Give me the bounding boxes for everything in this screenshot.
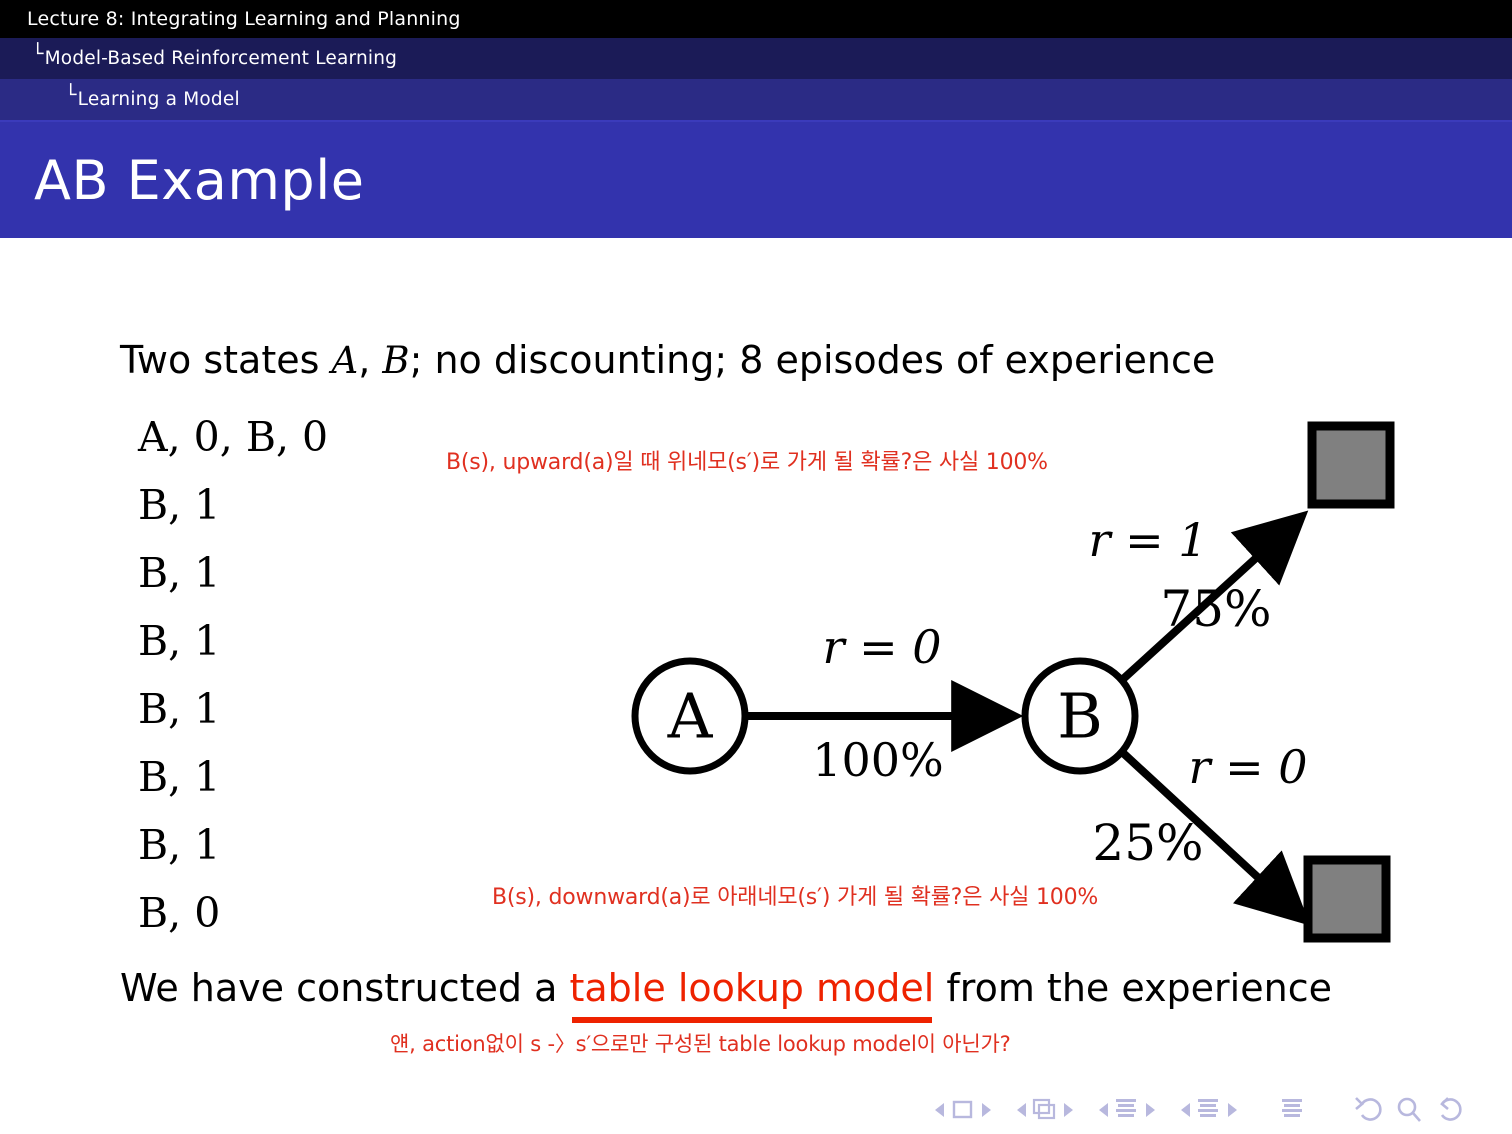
page-title: AB Example <box>0 149 364 212</box>
annotation-final: 얜, action없이 s -〉s′으로만 구성된 table lookup m… <box>390 1028 1011 1058</box>
lead-comma: , <box>358 338 382 382</box>
edge-ab-reward-label: r = 0 <box>822 620 941 674</box>
state-var-a: A <box>331 339 358 382</box>
closing-sentence: We have constructed a table lookup model… <box>120 966 1332 1010</box>
lead-sentence: Two states A, B; no discounting; 8 episo… <box>120 338 1215 382</box>
closing-prefix: We have constructed a <box>120 966 570 1010</box>
edge-up-prob-label: 75% <box>1160 580 1271 638</box>
lead-prefix: Two states <box>120 338 331 382</box>
frame-next-icon <box>1064 1103 1073 1117</box>
section-next-icon <box>1228 1103 1237 1117</box>
breadcrumb-lecture-label: Lecture 8: Integrating Learning and Plan… <box>27 8 461 30</box>
list-item: A, 0, B, 0 <box>138 403 328 471</box>
section-prev-icon <box>1181 1103 1190 1117</box>
edge-up-reward-label: r = 1 <box>1088 513 1207 567</box>
tree-branch-icon: └ <box>32 45 44 64</box>
back-icon <box>1356 1098 1380 1120</box>
section-lines-icon <box>1198 1099 1218 1117</box>
breadcrumb-subsection[interactable]: └ Learning a Model <box>0 79 1512 120</box>
navigation-header: Lecture 8: Integrating Learning and Plan… <box>0 0 1512 122</box>
list-item: B, 1 <box>138 539 328 607</box>
list-item: B, 1 <box>138 607 328 675</box>
forward-icon <box>1442 1098 1460 1120</box>
list-item: B, 1 <box>138 811 328 879</box>
edge-down-prob-label: 25% <box>1092 814 1203 872</box>
node-a-label: A <box>667 680 714 753</box>
state-var-b: B <box>382 339 409 382</box>
node-b-label: B <box>1057 680 1103 753</box>
slide-prev-icon <box>935 1103 944 1117</box>
annotation-downward: B(s), downward(a)로 아래네모(s′) 가게 될 확률?은 사실… <box>492 879 1098 911</box>
lead-suffix: ; no discounting; 8 episodes of experien… <box>410 338 1216 382</box>
terminal-state-down <box>1308 860 1386 938</box>
slide-frame-icon <box>954 1102 971 1117</box>
tree-branch-icon: └ <box>65 86 77 105</box>
breadcrumb-section-label: Model-Based Reinforcement Learning <box>45 48 397 69</box>
episode-list: A, 0, B, 0 B, 1 B, 1 B, 1 B, 1 B, 1 B, 1… <box>138 403 328 947</box>
subsection-prev-icon <box>1099 1103 1108 1117</box>
table-lookup-model-highlight: table lookup model <box>570 966 935 1010</box>
edge-ab-prob-label: 100% <box>812 733 944 787</box>
mdp-diagram: A B r = 0 100% r = 1 75% r = 0 25% <box>600 408 1410 953</box>
list-item: B, 1 <box>138 743 328 811</box>
subsection-lines-icon <box>1116 1099 1136 1117</box>
edge-down-reward-label: r = 0 <box>1188 740 1307 794</box>
list-item: B, 1 <box>138 675 328 743</box>
frame-stack-icon <box>1034 1100 1054 1118</box>
doc-lines-icon <box>1282 1099 1302 1117</box>
breadcrumb-subsection-label: Learning a Model <box>78 89 240 110</box>
breadcrumb-lecture[interactable]: Lecture 8: Integrating Learning and Plan… <box>0 0 1512 38</box>
beamer-navigation-symbols[interactable] <box>930 1090 1490 1130</box>
slide-next-icon <box>982 1103 991 1117</box>
closing-suffix: from the experience <box>934 966 1332 1010</box>
terminal-state-up <box>1312 426 1390 504</box>
slide-body: Two states A, B; no discounting; 8 episo… <box>0 238 1512 1134</box>
annotation-upward: B(s), upward(a)일 때 위네모(s′)로 가게 될 확률?은 사실… <box>446 444 1048 476</box>
frame-prev-icon <box>1017 1103 1026 1117</box>
search-icon <box>1399 1099 1420 1121</box>
subsection-next-icon <box>1146 1103 1155 1117</box>
list-item: B, 1 <box>138 471 328 539</box>
list-item: B, 0 <box>138 879 328 947</box>
slide-title-bar: AB Example <box>0 122 1512 238</box>
breadcrumb-section[interactable]: └ Model-Based Reinforcement Learning <box>0 38 1512 79</box>
